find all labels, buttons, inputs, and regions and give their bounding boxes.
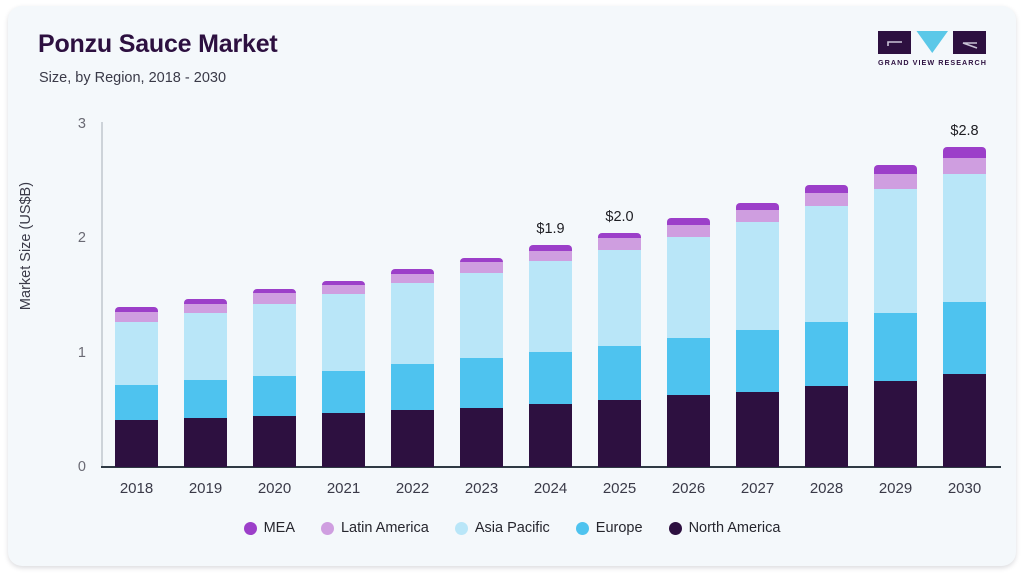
bar-segment[interactable] [322, 281, 365, 286]
bar-segment[interactable] [184, 380, 227, 418]
bar-group[interactable] [253, 289, 296, 467]
bar-group[interactable] [874, 165, 917, 467]
bar-segment[interactable] [115, 312, 158, 322]
bar-segment[interactable] [253, 289, 296, 294]
bar-segment[interactable] [943, 174, 986, 302]
legend-color-swatch-icon [321, 522, 334, 535]
bar-segment[interactable] [322, 285, 365, 294]
bar-segment[interactable] [115, 420, 158, 467]
bar-segment[interactable] [115, 322, 158, 385]
x-axis-tick-label: 2024 [515, 480, 586, 497]
legend-color-swatch-icon [576, 522, 589, 535]
y-axis-tick-label: 1 [26, 345, 86, 361]
bar-segment[interactable] [184, 299, 227, 304]
page-title: Ponzu Sauce Market [38, 30, 278, 59]
bar-segment[interactable] [943, 147, 986, 158]
bar-segment[interactable] [391, 283, 434, 364]
bar-segment[interactable] [874, 313, 917, 382]
x-axis-tick-label: 2019 [170, 480, 241, 497]
x-axis-tick-label: 2027 [722, 480, 793, 497]
legend-item-label: Latin America [341, 520, 429, 536]
brand-logo: GRAND VIEW RESEARCH [878, 30, 986, 68]
logo-text: GRAND VIEW RESEARCH [878, 58, 986, 67]
x-axis-tick-label: 2020 [239, 480, 310, 497]
bar-segment[interactable] [529, 404, 572, 467]
legend-item[interactable]: North America [669, 520, 781, 536]
bar-group[interactable]: $1.9 [529, 245, 572, 467]
bar-segment[interactable] [391, 364, 434, 410]
x-axis-tick-label: 2029 [860, 480, 931, 497]
bar-segment[interactable] [184, 313, 227, 380]
bar-segment[interactable] [322, 413, 365, 467]
bar-segment[interactable] [253, 416, 296, 467]
bar-segment[interactable] [874, 381, 917, 467]
bar-segment[interactable] [805, 193, 848, 207]
bar-segment[interactable] [667, 225, 710, 238]
bar-segment[interactable] [598, 400, 641, 467]
bar-group[interactable]: $2.8 [943, 147, 986, 467]
bar-segment[interactable] [667, 338, 710, 395]
bar-segment[interactable] [529, 245, 572, 251]
bar-segment[interactable] [460, 358, 503, 407]
bar-segment[interactable] [322, 371, 365, 413]
y-axis-tick-label: 2 [26, 230, 86, 246]
bar-segment[interactable] [736, 203, 779, 210]
legend-color-swatch-icon [244, 522, 257, 535]
bar-segment[interactable] [391, 274, 434, 283]
x-axis-tick-label: 2018 [101, 480, 172, 497]
bar-segment[interactable] [874, 174, 917, 189]
bar-segment[interactable] [805, 322, 848, 386]
bar-segment[interactable] [667, 237, 710, 338]
bar-group[interactable] [736, 203, 779, 467]
bar-segment[interactable] [736, 210, 779, 223]
bar-segment[interactable] [529, 261, 572, 351]
bar-segment[interactable] [391, 269, 434, 274]
bar-segment[interactable] [460, 273, 503, 359]
bar-segment[interactable] [943, 374, 986, 467]
bar-segment[interactable] [598, 238, 641, 249]
y-axis-label: Market Size (US$B) [18, 116, 34, 376]
bar-segment[interactable] [460, 408, 503, 467]
bar-segment[interactable] [253, 376, 296, 416]
bar-segment[interactable] [598, 250, 641, 346]
bar-group[interactable] [184, 299, 227, 467]
bar-segment[interactable] [115, 385, 158, 420]
legend-color-swatch-icon [455, 522, 468, 535]
legend-item[interactable]: Latin America [321, 520, 429, 536]
bar-segment[interactable] [460, 262, 503, 272]
bar-segment[interactable] [805, 386, 848, 467]
y-axis-tick-label: 3 [26, 116, 86, 132]
legend-item[interactable]: Asia Pacific [455, 520, 550, 536]
bar-segment[interactable] [736, 330, 779, 392]
x-axis-tick-label: 2023 [446, 480, 517, 497]
chart-card: Ponzu Sauce Market Size, by Region, 2018… [8, 6, 1016, 566]
bar-segment[interactable] [184, 304, 227, 313]
x-axis-tick-label: 2030 [929, 480, 1000, 497]
bar-segment[interactable] [115, 307, 158, 312]
bar-value-label: $2.8 [929, 123, 1000, 139]
bar-segment[interactable] [391, 410, 434, 467]
bar-segment[interactable] [943, 158, 986, 174]
bar-group[interactable] [322, 281, 365, 467]
bar-segment[interactable] [184, 418, 227, 467]
bar-value-label: $2.0 [584, 209, 655, 225]
bar-segment[interactable] [598, 233, 641, 239]
bar-segment[interactable] [598, 346, 641, 400]
x-axis-tick-label: 2021 [308, 480, 379, 497]
bar-segment[interactable] [805, 185, 848, 193]
bar-segment[interactable] [805, 206, 848, 321]
bar-group[interactable]: $2.0 [598, 233, 641, 467]
bar-group[interactable] [391, 269, 434, 467]
legend-item-label: MEA [264, 520, 295, 536]
bar-group[interactable] [115, 307, 158, 467]
logo-mark-icon [878, 30, 986, 56]
bar-segment[interactable] [322, 294, 365, 371]
bar-segment[interactable] [736, 222, 779, 329]
legend-item[interactable]: Europe [576, 520, 643, 536]
bar-segment[interactable] [874, 189, 917, 312]
y-axis-tick-label: 0 [26, 459, 86, 475]
bar-segment[interactable] [874, 165, 917, 174]
bar-group[interactable] [805, 185, 848, 467]
bar-segment[interactable] [253, 293, 296, 303]
bar-segment[interactable] [529, 251, 572, 261]
legend-item-label: Europe [596, 520, 643, 536]
x-axis-tick-label: 2022 [377, 480, 448, 497]
legend-item[interactable]: MEA [244, 520, 295, 536]
chart-subtitle: Size, by Region, 2018 - 2030 [39, 70, 226, 86]
bar-segment[interactable] [736, 392, 779, 467]
legend-item-label: North America [689, 520, 781, 536]
bar-group[interactable] [460, 258, 503, 467]
bar-segment[interactable] [529, 352, 572, 405]
bar-segment[interactable] [667, 218, 710, 225]
bar-segment[interactable] [253, 304, 296, 376]
bar-segment[interactable] [460, 258, 503, 263]
plot-area: $1.9$2.0$2.8 [101, 124, 998, 467]
x-axis-tick-label: 2026 [653, 480, 724, 497]
chart-legend: MEALatin AmericaAsia PacificEuropeNorth … [8, 520, 1016, 536]
bar-segment[interactable] [943, 302, 986, 374]
bar-segment[interactable] [667, 395, 710, 467]
page-root: Ponzu Sauce Market Size, by Region, 2018… [0, 0, 1024, 576]
x-axis-tick-label: 2028 [791, 480, 862, 497]
x-axis-tick-label: 2025 [584, 480, 655, 497]
bar-value-label: $1.9 [515, 221, 586, 237]
legend-item-label: Asia Pacific [475, 520, 550, 536]
legend-color-swatch-icon [669, 522, 682, 535]
bar-group[interactable] [667, 218, 710, 467]
